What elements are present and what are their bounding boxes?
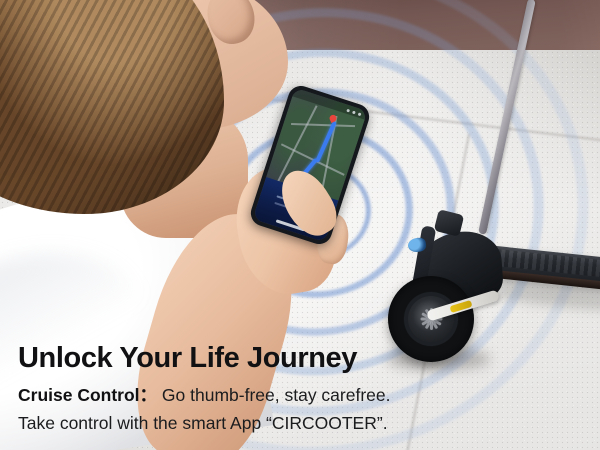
feature-description: Go thumb-free, stay carefree.	[162, 385, 391, 405]
promo-banner: Unlock Your Life Journey Cruise Control：…	[0, 0, 600, 450]
scooter-stem-clamp	[434, 209, 465, 237]
app-line: Take control with the smart App “CIRCOOT…	[18, 412, 578, 434]
page-title: Unlock Your Life Journey	[18, 344, 578, 374]
wifi-icon	[352, 110, 356, 114]
battery-icon	[358, 112, 362, 116]
map-road	[291, 123, 355, 127]
electric-scooter	[360, 0, 600, 380]
signal-icon	[346, 108, 350, 112]
feature-line: Cruise Control： Go thumb-free, stay care…	[18, 384, 578, 406]
navigation-route	[315, 121, 336, 163]
marketing-copy: Unlock Your Life Journey Cruise Control：…	[18, 344, 578, 434]
feature-label: Cruise Control：	[18, 385, 157, 405]
scooter-stem	[478, 0, 536, 235]
map-pin-icon	[328, 114, 337, 123]
